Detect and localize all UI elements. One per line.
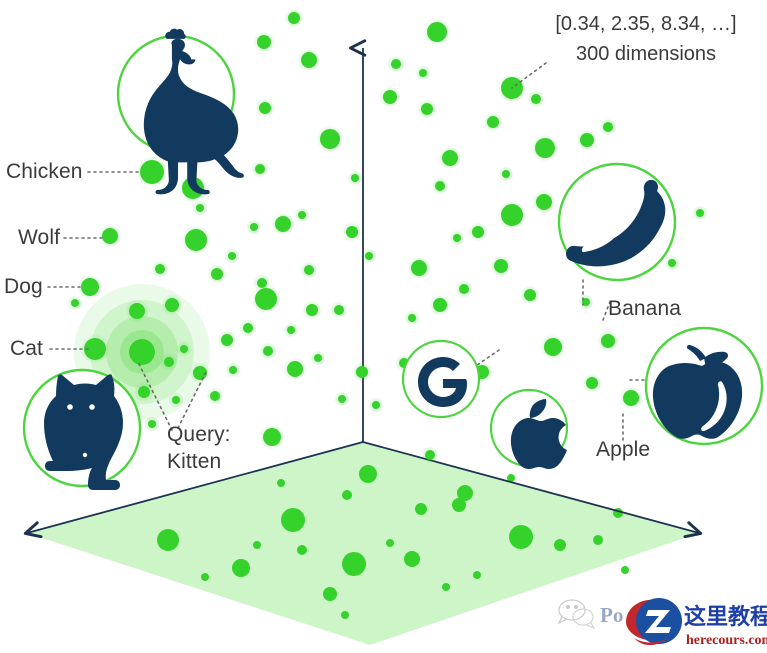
vector-dot bbox=[472, 226, 484, 238]
vector-dot bbox=[306, 304, 318, 316]
vector-dot bbox=[255, 164, 265, 174]
vector-dot bbox=[71, 299, 79, 307]
z-logo-icon bbox=[626, 598, 682, 645]
vector-dot bbox=[696, 209, 704, 217]
vector-dot bbox=[129, 303, 145, 319]
vector-dot bbox=[301, 52, 317, 68]
vector-dot bbox=[544, 338, 562, 356]
vector-dot bbox=[257, 278, 267, 288]
vector-dot bbox=[255, 288, 277, 310]
label-cat: Cat bbox=[10, 337, 43, 361]
vector-dot bbox=[253, 541, 261, 549]
vector-dot bbox=[365, 252, 373, 260]
vector-dot bbox=[531, 94, 541, 104]
vector-dot bbox=[210, 391, 220, 401]
vector-dot bbox=[580, 133, 594, 147]
annotation-vector: [0.34, 2.35, 8.34, …] bbox=[546, 12, 746, 37]
watermark-cn-text: 这里教程网 bbox=[684, 604, 767, 629]
vector-dot bbox=[603, 122, 613, 132]
vector-dot bbox=[102, 228, 118, 244]
vector-dot bbox=[342, 490, 352, 500]
vector-dot bbox=[442, 150, 458, 166]
annotation-dimensions: 300 dimensions bbox=[546, 42, 746, 67]
vector-dot bbox=[415, 503, 427, 515]
vector-dot bbox=[487, 116, 499, 128]
vector-dot bbox=[221, 334, 233, 346]
vector-dot bbox=[501, 204, 523, 226]
vector-dot bbox=[196, 204, 204, 212]
vector-dot bbox=[435, 181, 445, 191]
vector-dot bbox=[411, 260, 427, 276]
vector-dot bbox=[140, 160, 164, 184]
icon-badge-google[interactable] bbox=[403, 341, 479, 417]
vector-dot bbox=[421, 103, 433, 115]
vector-dot bbox=[281, 508, 305, 532]
vector-dot bbox=[287, 361, 303, 377]
vector-space-svg bbox=[0, 0, 767, 653]
label-query-title: Query: bbox=[167, 423, 231, 447]
vector-dot bbox=[228, 252, 236, 260]
vector-dot bbox=[172, 396, 180, 404]
vector-dot bbox=[593, 535, 603, 545]
vector-dot bbox=[391, 59, 401, 69]
watermark-svg: Po 这里教程网 herecours.com bbox=[556, 592, 767, 653]
vector-dot bbox=[185, 229, 207, 251]
watermark-brand: Po bbox=[600, 603, 623, 627]
vector-dot bbox=[341, 611, 349, 619]
vector-dot bbox=[601, 334, 615, 348]
query-point[interactable] bbox=[129, 339, 155, 365]
vector-dot bbox=[155, 264, 165, 274]
vector-dot bbox=[524, 289, 536, 301]
vector-dot bbox=[297, 545, 307, 555]
vector-dot bbox=[459, 284, 469, 294]
vector-dot bbox=[277, 479, 285, 487]
vector-dot bbox=[138, 386, 150, 398]
vector-dot bbox=[334, 305, 344, 315]
vector-dot bbox=[165, 298, 179, 312]
icon-badge-cat[interactable] bbox=[24, 370, 140, 490]
vector-dot bbox=[342, 552, 366, 576]
vector-dot bbox=[298, 211, 306, 219]
label-dog: Dog bbox=[4, 275, 43, 299]
vector-dot bbox=[419, 69, 427, 77]
vector-dot bbox=[304, 265, 314, 275]
vector-dot bbox=[180, 345, 188, 353]
vector-dot bbox=[287, 326, 295, 334]
vector-dot bbox=[351, 174, 359, 182]
vector-dot bbox=[453, 234, 461, 242]
vector-dot bbox=[211, 268, 223, 280]
vector-dot bbox=[81, 278, 99, 296]
vector-dot bbox=[323, 587, 337, 601]
vector-dot bbox=[288, 12, 300, 24]
label-wolf: Wolf bbox=[18, 226, 60, 250]
vector-dot bbox=[457, 485, 473, 501]
vector-dot bbox=[257, 35, 271, 49]
vector-dot bbox=[263, 346, 273, 356]
vector-dot bbox=[404, 551, 420, 567]
icon-badge-apple-fruit[interactable] bbox=[646, 328, 762, 444]
icon-badge-banana[interactable] bbox=[559, 164, 675, 280]
vector-dot bbox=[164, 357, 174, 367]
vector-dot bbox=[201, 573, 209, 581]
vector-dot bbox=[433, 298, 447, 312]
vector-dot bbox=[425, 450, 435, 460]
vector-dot bbox=[536, 194, 552, 210]
vector-dot bbox=[494, 259, 508, 273]
vector-dot bbox=[148, 420, 156, 428]
label-query-term: Kitten bbox=[167, 450, 221, 474]
vector-dot bbox=[554, 539, 566, 551]
vector-dot bbox=[586, 377, 598, 389]
vector-dot bbox=[408, 314, 416, 322]
label-apple: Apple bbox=[596, 438, 650, 462]
vector-dot bbox=[383, 90, 397, 104]
icon-badge-apple-logo[interactable] bbox=[491, 390, 567, 469]
label-chicken: Chicken bbox=[6, 160, 83, 184]
vector-dot bbox=[359, 465, 377, 483]
vector-dot bbox=[250, 223, 258, 231]
vector-dot bbox=[338, 395, 346, 403]
vector-dot bbox=[442, 583, 450, 591]
vector-dot bbox=[263, 428, 281, 446]
vector-dot bbox=[356, 366, 368, 378]
vector-dot bbox=[320, 129, 340, 149]
vector-dot bbox=[535, 138, 555, 158]
vector-dot bbox=[386, 539, 394, 547]
watermark-site-text: herecours.com bbox=[686, 633, 767, 648]
vector-dot bbox=[275, 216, 291, 232]
label-banana: Banana bbox=[608, 297, 681, 321]
vector-dot bbox=[502, 170, 510, 178]
vector-dot bbox=[473, 571, 481, 579]
vector-dot bbox=[509, 525, 533, 549]
vector-dot bbox=[623, 390, 639, 406]
vector-dot bbox=[346, 226, 358, 238]
diagram-canvas: Chicken Wolf Dog Cat Banana Apple Query:… bbox=[0, 0, 767, 653]
vector-dot bbox=[157, 529, 179, 551]
vector-dot bbox=[259, 102, 271, 114]
vector-dot bbox=[243, 323, 253, 333]
vector-dot bbox=[314, 354, 322, 362]
watermark: Po 这里教程网 herecours.com bbox=[556, 592, 767, 653]
vector-dot bbox=[621, 566, 629, 574]
vector-dot bbox=[229, 366, 237, 374]
vector-dot bbox=[372, 401, 380, 409]
vector-dot bbox=[668, 259, 676, 267]
vector-dot bbox=[232, 559, 250, 577]
vector-dot bbox=[427, 22, 447, 42]
wechat-icon bbox=[559, 600, 594, 628]
